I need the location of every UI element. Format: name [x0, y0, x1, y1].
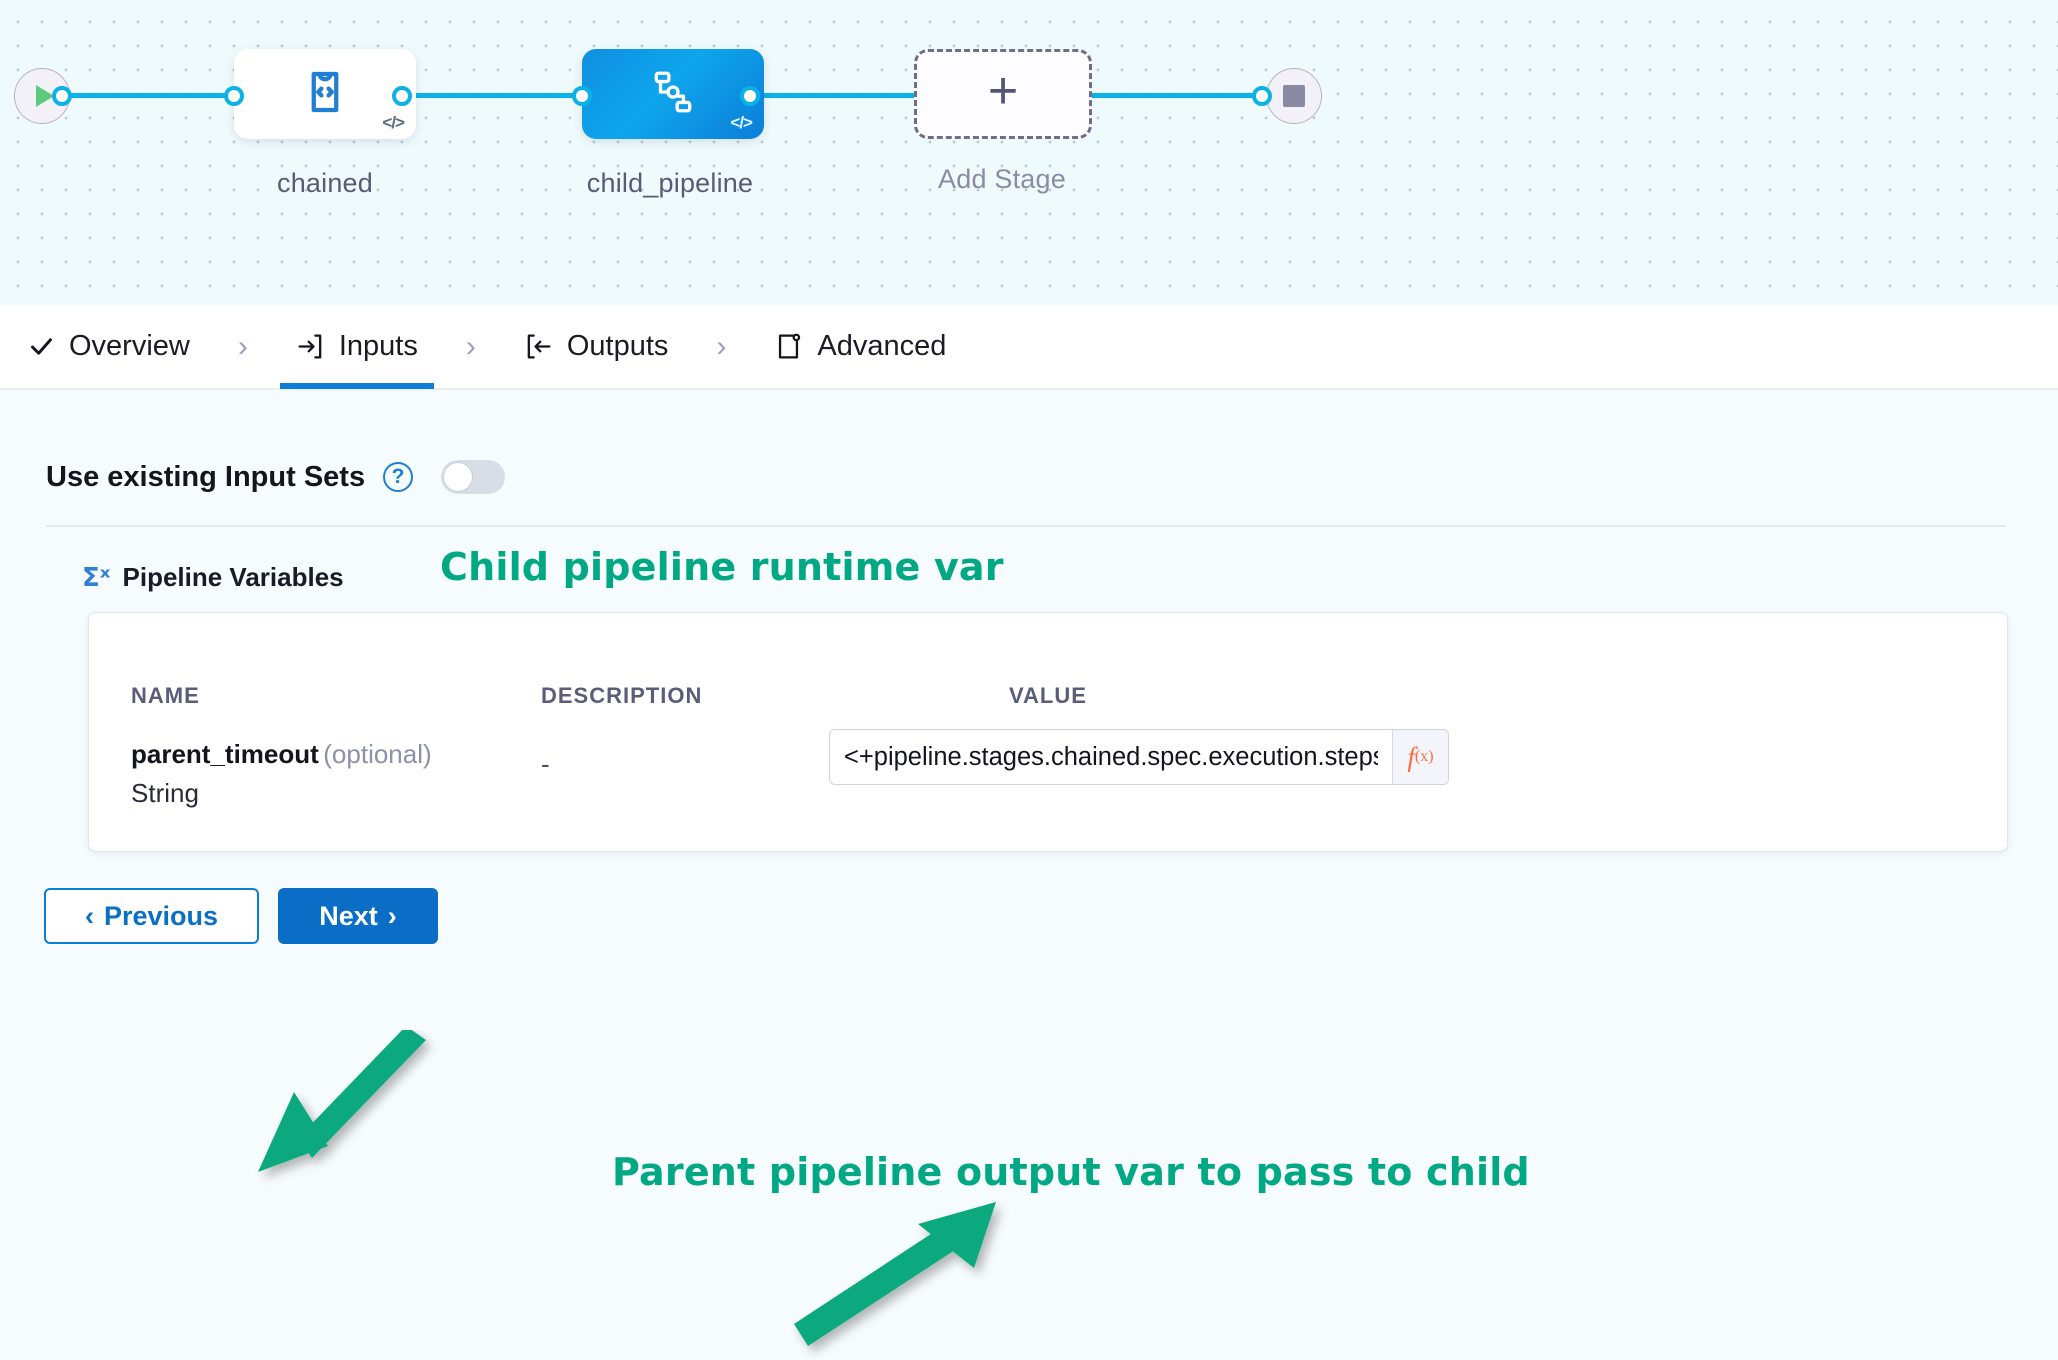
next-button[interactable]: Next ›	[278, 888, 438, 944]
toggle-knob	[443, 462, 473, 492]
tab-label-inputs: Inputs	[339, 330, 418, 363]
use-existing-input-sets-label: Use existing Input Sets	[46, 461, 365, 494]
chevron-left-icon: ‹	[85, 901, 94, 932]
custom-stage-icon	[298, 65, 352, 124]
use-existing-input-sets-toggle[interactable]	[441, 460, 505, 494]
tab-separator-icon: ›	[690, 330, 752, 364]
add-stage-node[interactable]: +	[914, 49, 1092, 139]
edge-start-to-chained	[56, 93, 234, 98]
code-badge-icon: </>	[382, 113, 404, 133]
column-header-value: VALUE	[1009, 683, 1087, 709]
variable-value-input[interactable]	[830, 730, 1392, 784]
tab-advanced[interactable]: Advanced	[752, 304, 968, 389]
column-header-name: NAME	[131, 683, 200, 709]
annotation-parent-output-var: Parent pipeline output var to pass to ch…	[612, 1150, 1530, 1194]
pipeline-canvas[interactable]: </> chained </> child_pipeline + Add Sta…	[0, 0, 2058, 305]
stop-icon	[1283, 85, 1305, 107]
variable-description: -	[541, 749, 550, 780]
port-chained-in[interactable]	[224, 86, 244, 106]
variable-value-field[interactable]: f(x)	[829, 729, 1449, 785]
sigma-x-icon: Σˣ	[82, 563, 111, 593]
input-arrow-icon	[296, 332, 325, 361]
port-start-out[interactable]	[52, 86, 72, 106]
tab-separator-icon: ›	[440, 330, 502, 364]
pipeline-variables-table: NAME DESCRIPTION VALUE parent_timeout (o…	[88, 612, 2008, 852]
pipeline-variables-title: Pipeline Variables	[123, 562, 344, 593]
stage-config-tabs: Overview › Inputs › Outputs › Advanced	[0, 305, 2058, 390]
node-label-child-pipeline: child_pipeline	[520, 168, 820, 199]
annotation-child-runtime-var: Child pipeline runtime var	[440, 545, 1004, 589]
port-chained-out[interactable]	[392, 86, 412, 106]
check-icon	[28, 333, 55, 360]
tab-separator-icon: ›	[212, 330, 274, 364]
annotation-arrow-up-right	[790, 1190, 1020, 1360]
gear-card-icon	[774, 332, 803, 361]
tab-label-advanced: Advanced	[817, 330, 946, 363]
port-end-in[interactable]	[1252, 86, 1272, 106]
edge-chained-to-child	[402, 93, 582, 98]
node-label-add-stage: Add Stage	[852, 164, 1152, 195]
port-child-in[interactable]	[572, 86, 592, 106]
pipeline-stage-icon	[648, 67, 698, 122]
previous-button-label: Previous	[104, 901, 218, 932]
divider	[46, 525, 2006, 527]
inputs-panel: Use existing Input Sets ? Σˣ Pipeline Va…	[0, 390, 2058, 1120]
use-existing-input-sets-row: Use existing Input Sets ?	[46, 460, 505, 494]
tab-inputs[interactable]: Inputs	[274, 304, 440, 389]
plus-icon: +	[988, 65, 1018, 117]
table-row: parent_timeout (optional) String	[131, 739, 432, 809]
pipeline-variables-header: Σˣ Pipeline Variables	[82, 562, 344, 593]
variable-name: parent_timeout	[131, 739, 319, 769]
edge-add-to-end	[1092, 93, 1262, 98]
edge-child-to-add	[748, 93, 918, 98]
play-icon	[36, 85, 54, 107]
tab-label-overview: Overview	[69, 330, 190, 363]
tab-label-outputs: Outputs	[567, 330, 669, 363]
output-arrow-icon	[524, 332, 553, 361]
port-child-out[interactable]	[740, 86, 760, 106]
next-button-label: Next	[319, 901, 378, 932]
stage-node-child-pipeline[interactable]: </>	[582, 49, 764, 139]
annotation-arrow-down-left	[250, 1030, 440, 1190]
help-icon[interactable]: ?	[383, 462, 413, 492]
code-badge-icon: </>	[730, 113, 752, 133]
end-node[interactable]	[1266, 68, 1322, 124]
column-header-description: DESCRIPTION	[541, 683, 702, 709]
expression-fx-button[interactable]: f(x)	[1392, 730, 1448, 784]
variable-name-cell: parent_timeout (optional)	[131, 739, 432, 770]
stage-node-chained[interactable]: </>	[234, 49, 416, 139]
chevron-right-icon: ›	[388, 901, 397, 932]
variable-optional-tag: (optional)	[323, 739, 431, 769]
tab-overview[interactable]: Overview	[6, 304, 212, 389]
fx-label: f	[1407, 742, 1415, 773]
node-label-chained: chained	[175, 168, 475, 199]
variable-type: String	[131, 778, 432, 809]
previous-button[interactable]: ‹ Previous	[44, 888, 259, 944]
fx-subscript: (x)	[1415, 748, 1434, 766]
tab-outputs[interactable]: Outputs	[502, 304, 691, 389]
